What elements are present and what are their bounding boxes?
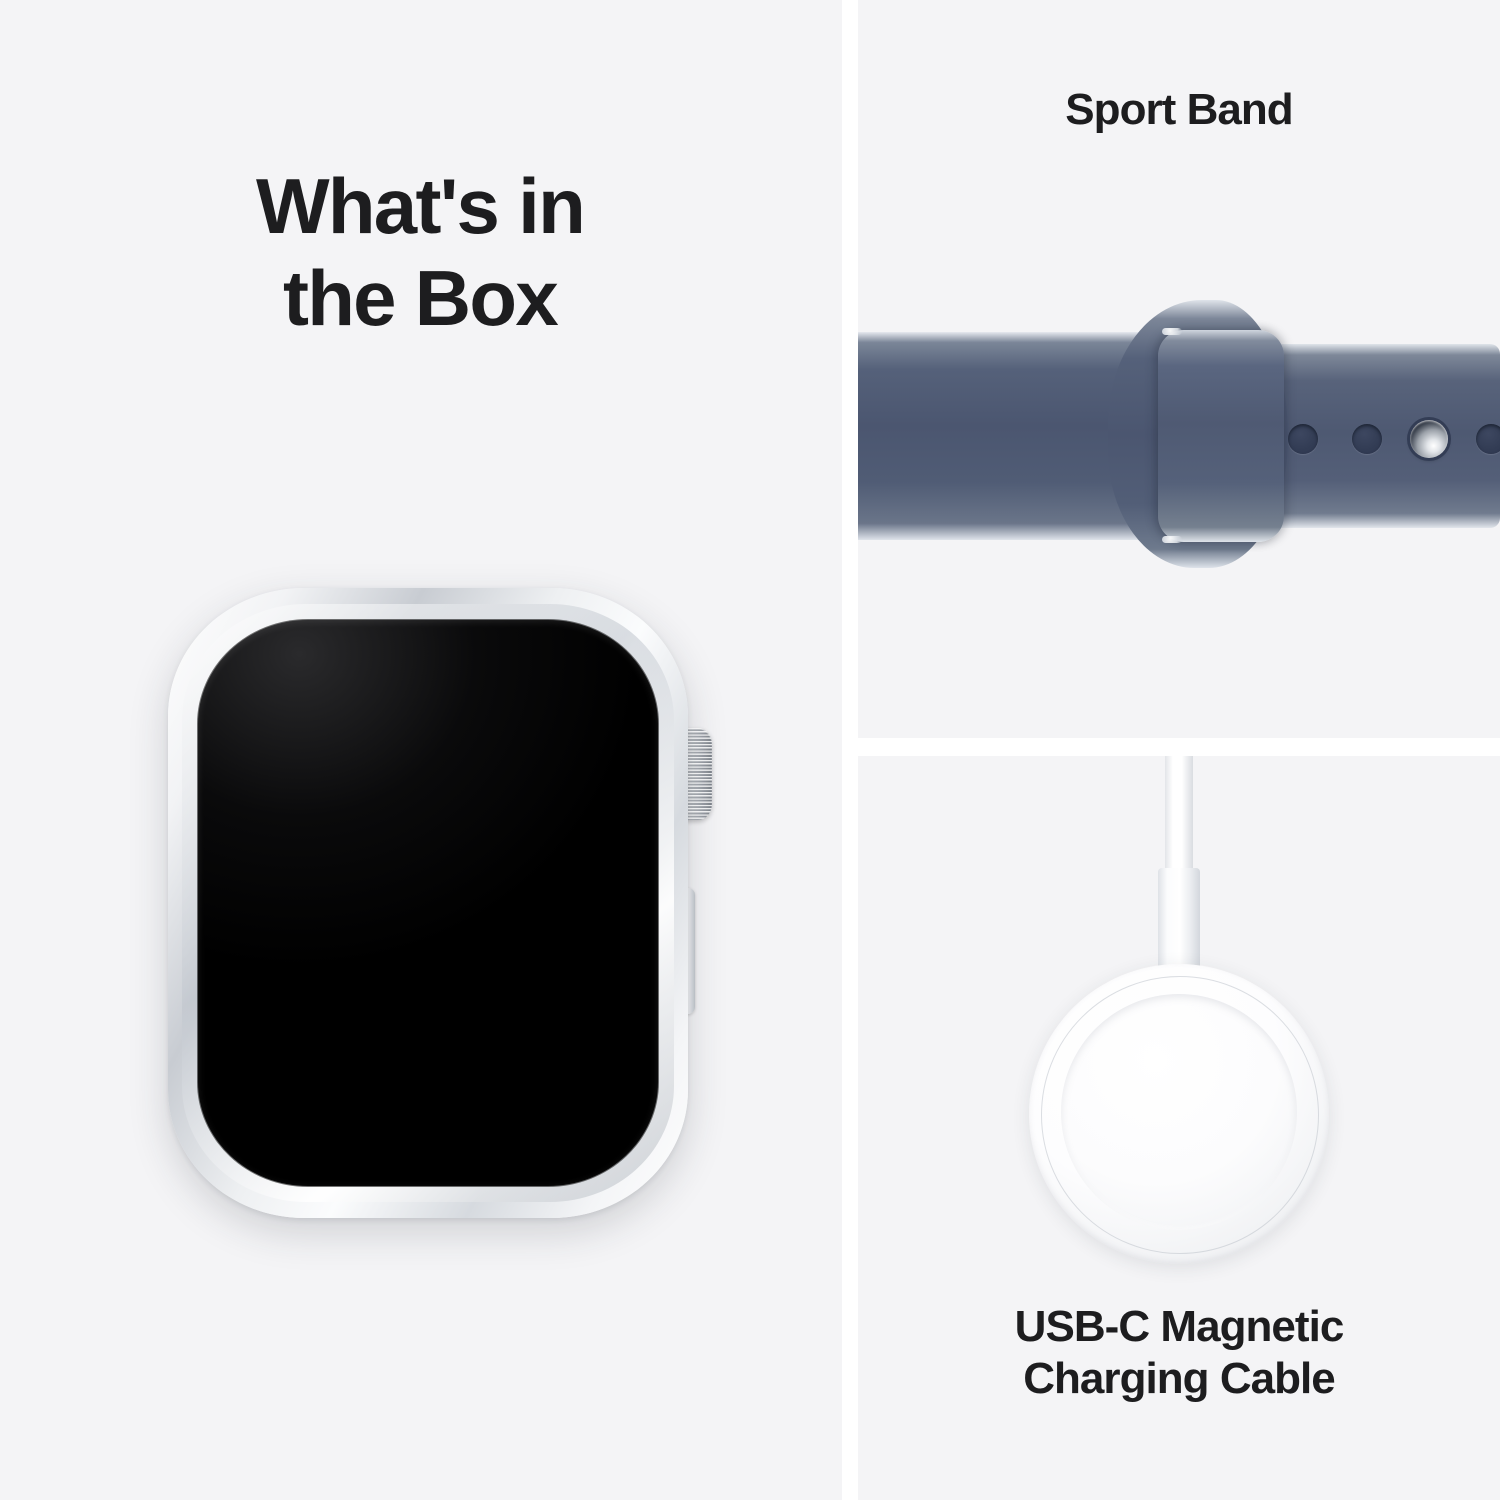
charging-cable-caption: USB-C Magnetic Charging Cable bbox=[858, 1301, 1500, 1405]
puck-charging-surface bbox=[1061, 994, 1297, 1230]
band-keeper-loop bbox=[1158, 330, 1284, 542]
cable-strain-relief bbox=[1158, 868, 1200, 978]
band-hole bbox=[1352, 424, 1382, 454]
panel-sport-band: Sport Band bbox=[858, 0, 1500, 738]
charging-cable-illustration bbox=[858, 756, 1500, 1316]
panel-charging-cable: USB-C Magnetic Charging Cable bbox=[858, 756, 1500, 1500]
sport-band-illustration bbox=[858, 260, 1500, 600]
band-keeper-slit-bottom bbox=[1162, 536, 1182, 543]
cable-cord bbox=[1165, 756, 1193, 874]
sport-band-caption: Sport Band bbox=[858, 84, 1500, 136]
apple-watch-illustration bbox=[168, 588, 688, 1218]
band-keeper-slit-top bbox=[1162, 328, 1182, 335]
band-hole bbox=[1288, 424, 1318, 454]
band-closure-pin-icon bbox=[1410, 420, 1448, 458]
page-title: What's in the Box bbox=[60, 160, 780, 344]
product-image-canvas: What's in the Box Sport Band bbox=[0, 0, 1500, 1500]
magnetic-charging-puck bbox=[1029, 964, 1329, 1264]
watch-display-screen bbox=[198, 620, 658, 1186]
band-hole bbox=[1476, 424, 1500, 454]
panel-whats-in-the-box: What's in the Box bbox=[0, 0, 842, 1500]
